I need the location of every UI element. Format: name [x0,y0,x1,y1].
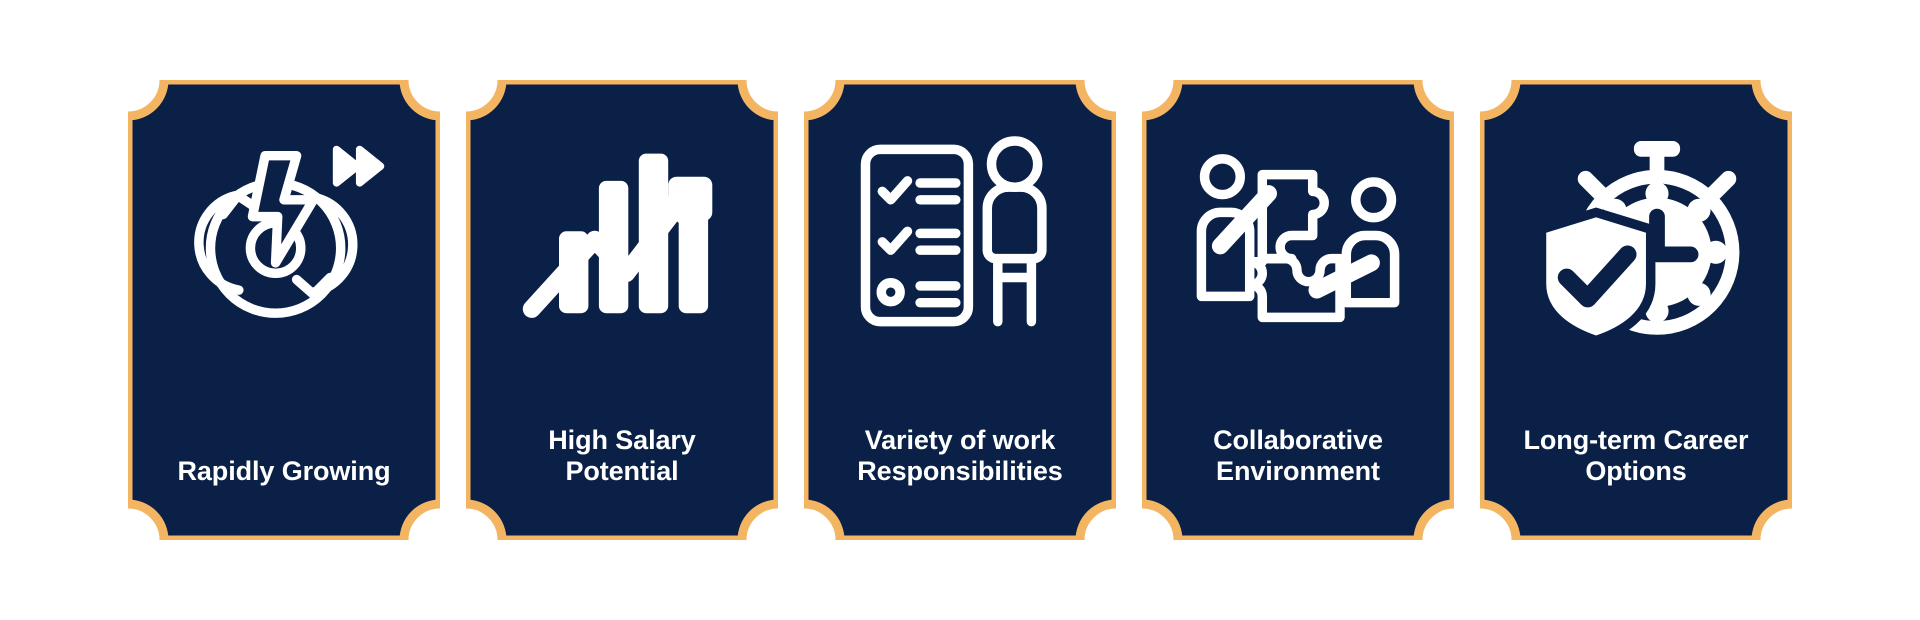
card-variety-of-work-responsibilities[interactable]: Variety of work Responsibilities [804,80,1116,540]
benefits-card-row: Rapidly Growing [0,0,1920,620]
lightning-refresh-fastforward-icon [179,128,389,343]
card-label: Long-term Career Options [1500,425,1772,488]
checklist-person-icon [855,128,1065,343]
card-rapidly-growing[interactable]: Rapidly Growing [128,80,440,540]
stopwatch-gear-shield-check-icon [1531,128,1741,343]
bar-chart-growth-arrow-icon [517,128,727,343]
people-puzzle-pieces-icon [1193,128,1403,343]
card-label: Rapidly Growing [148,456,420,488]
card-collaborative-environment[interactable]: Collaborative Environment [1142,80,1454,540]
card-label: Variety of work Responsibilities [824,425,1096,488]
card-long-term-career-options[interactable]: Long-term Career Options [1480,80,1792,540]
card-label: High Salary Potential [486,425,758,488]
card-high-salary-potential[interactable]: High Salary Potential [466,80,778,540]
card-label: Collaborative Environment [1162,425,1434,488]
